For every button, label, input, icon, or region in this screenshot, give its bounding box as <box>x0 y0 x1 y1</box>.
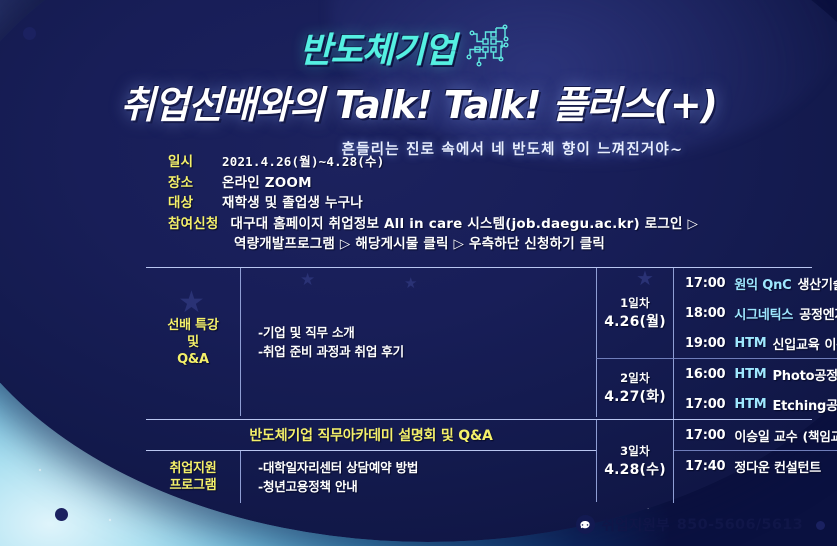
apply-label: 참여신청 <box>168 214 218 235</box>
sessions-day-3: 17:00 이승일 교수 (책임교수) 17:40 정다운 컨설턴트 <box>673 420 837 503</box>
sessions-day-2: 16:00 HTM Photo공정 곽대원 (기계설계 20졸업) 17:00 … <box>673 358 837 419</box>
category-label-line-1: 선배 특강 <box>167 318 218 333</box>
info-row-datetime: 일시 2021.4.26(월)~4.28(수) <box>168 152 698 173</box>
eyebrow-row: 반도체기업 <box>299 22 511 73</box>
category-label-lecture: 선배 특강 및 Q&A <box>146 268 240 416</box>
decorative-dot <box>816 521 825 530</box>
info-value: 온라인 ZOOM <box>222 173 312 194</box>
table-row: 2일차 4.27(화) 16:00 HTM Photo공정 곽대원 (기계설계 … <box>596 358 812 419</box>
info-row-location: 장소 온라인 ZOOM <box>168 173 698 194</box>
footer-contact: 취업지원부 850-5606/5613 <box>576 514 803 535</box>
schedule-table: 선배 특강 및 Q&A -기업 및 직무 소개 -취업 준비 과정과 취업 후기 <box>146 267 812 503</box>
footer-phone-number: 850-5606/5613 <box>677 517 803 533</box>
day-date: 4.27(화) <box>604 388 666 407</box>
info-label: 대상 <box>168 193 222 214</box>
session-role: 공정엔지니어 <box>799 304 837 323</box>
session-time: 17:00 <box>685 428 725 443</box>
day-date: 4.28(수) <box>604 461 666 480</box>
session-time: 16:00 <box>685 367 725 382</box>
session-company: HTM <box>734 336 766 351</box>
support-label-line-2: 프로그램 <box>169 478 216 493</box>
session-role: Etching공정 <box>772 395 837 414</box>
session-row: 18:00 시그네틱스 공정엔지니어 엄태혁 (통신공학 19졸업) <box>674 298 837 328</box>
day-cell-1: 1일차 4.26(월) <box>596 268 673 358</box>
table-row: 반도체기업 직무아카데미 설명회 및 Q&A 취업지원 프로그램 -대학일자리센… <box>146 419 812 503</box>
session-time: 19:00 <box>685 336 725 351</box>
session-major: (책임교수) <box>803 426 837 445</box>
info-row-apply: 참여신청 대구대 홈페이지 취업정보 All in care 시스템(job.d… <box>168 214 698 235</box>
apply-line-1: 대구대 홈페이지 취업정보 All in care 시스템(job.daegu.… <box>230 214 698 235</box>
circuit-chip-icon <box>466 24 512 72</box>
info-label: 장소 <box>168 173 222 194</box>
info-value: 2021.4.26(월)~4.28(수) <box>222 152 384 173</box>
session-row: 17:00 HTM Etching공정 최성구 (전자제어 20졸업) <box>674 389 837 419</box>
session-company: 원익 QnC <box>734 274 791 293</box>
session-time: 18:00 <box>685 306 725 321</box>
session-speaker: 이승일 교수 <box>734 426 797 445</box>
day-ordinal: 2일차 <box>620 369 650 388</box>
day-date: 4.26(월) <box>604 313 666 332</box>
session-row: 17:40 정다운 컨설턴트 <box>674 450 837 481</box>
session-role: Photo공정 <box>772 365 837 384</box>
session-row: 19:00 HTM 신입교육 이종원 (산업경영 18졸업) <box>674 328 837 358</box>
session-company: HTM <box>734 367 766 382</box>
session-time: 17:00 <box>685 397 725 412</box>
day-ordinal: 1일차 <box>620 294 650 313</box>
event-poster: ★ ★ ★ ★ 반도체기업 <box>0 0 837 546</box>
decorative-dot <box>55 508 68 521</box>
session-role: 생산기술 <box>797 274 837 293</box>
session-time: 17:40 <box>685 459 725 474</box>
support-program-row: 취업지원 프로그램 -대학일자리센터 상담예약 방법 -청년고용정책 안내 <box>146 450 596 503</box>
support-desc-line-1: -대학일자리센터 상담예약 방법 <box>258 460 418 475</box>
session-row: 16:00 HTM Photo공정 곽대원 (기계설계 20졸업) <box>674 359 837 389</box>
day3-left-stack: 반도체기업 직무아카데미 설명회 및 Q&A 취업지원 프로그램 -대학일자리센… <box>146 420 596 503</box>
support-label-line-1: 취업지원 <box>169 461 216 476</box>
category-desc-support: -대학일자리센터 상담예약 방법 -청년고용정책 안내 <box>240 451 596 503</box>
info-value: 재학생 및 졸업생 누구나 <box>222 193 363 214</box>
session-company: HTM <box>734 397 766 412</box>
apply-line-2: 역량개발프로그램 ▷ 해당게시물 클릭 ▷ 우측하단 신청하기 클릭 <box>234 234 605 255</box>
poster-header: 반도체기업 취업선배와의 Talk! Talk! 플러스(+) 흔들 <box>0 22 837 159</box>
lecture-left-stack: 선배 특강 및 Q&A -기업 및 직무 소개 -취업 준비 과정과 취업 후기 <box>146 268 596 416</box>
academy-banner: 반도체기업 직무아카데미 설명회 및 Q&A <box>146 420 596 450</box>
session-time: 17:00 <box>685 276 725 291</box>
lecture-category-row: 선배 특강 및 Q&A -기업 및 직무 소개 -취업 준비 과정과 취업 후기 <box>146 268 596 416</box>
info-row-audience: 대상 재학생 및 졸업생 누구나 <box>168 193 698 214</box>
day-cell-3: 3일차 4.28(수) <box>596 420 673 502</box>
lecture-desc-line-2: -취업 준비 과정과 취업 후기 <box>258 344 404 359</box>
category-desc-lecture: -기업 및 직무 소개 -취업 준비 과정과 취업 후기 <box>240 268 596 416</box>
footer-department: 취업지원부 <box>602 514 670 535</box>
category-label-line-2: 및 <box>187 335 199 350</box>
lecture-desc-line-1: -기업 및 직무 소개 <box>258 325 355 340</box>
support-desc-line-2: -청년고용정책 안내 <box>258 479 358 494</box>
category-label-line-3: Q&A <box>177 352 209 367</box>
info-row-apply-cont: 역량개발프로그램 ▷ 해당게시물 클릭 ▷ 우측하단 신청하기 클릭 <box>234 234 698 255</box>
phone-icon <box>576 515 595 534</box>
session-company: 시그네틱스 <box>734 304 793 323</box>
session-role: 신입교육 <box>772 334 819 353</box>
event-info-block: 일시 2021.4.26(월)~4.28(수) 장소 온라인 ZOOM 대상 재… <box>168 152 698 255</box>
session-speaker: 이종원 <box>825 334 837 353</box>
day-ordinal: 3일차 <box>620 442 650 461</box>
day-cell-2: 2일차 4.27(화) <box>596 358 673 417</box>
session-row: 17:00 이승일 교수 (책임교수) <box>674 420 837 450</box>
session-speaker: 정다운 컨설턴트 <box>734 457 821 476</box>
session-row: 17:00 원익 QnC 생산기술 이기환 (화학공학 20졸업) <box>674 268 837 298</box>
page-title: 취업선배와의 Talk! Talk! 플러스(+) <box>0 74 837 129</box>
category-label-support: 취업지원 프로그램 <box>146 451 240 503</box>
info-label: 일시 <box>168 152 222 173</box>
eyebrow-title: 반도체기업 <box>299 22 455 73</box>
